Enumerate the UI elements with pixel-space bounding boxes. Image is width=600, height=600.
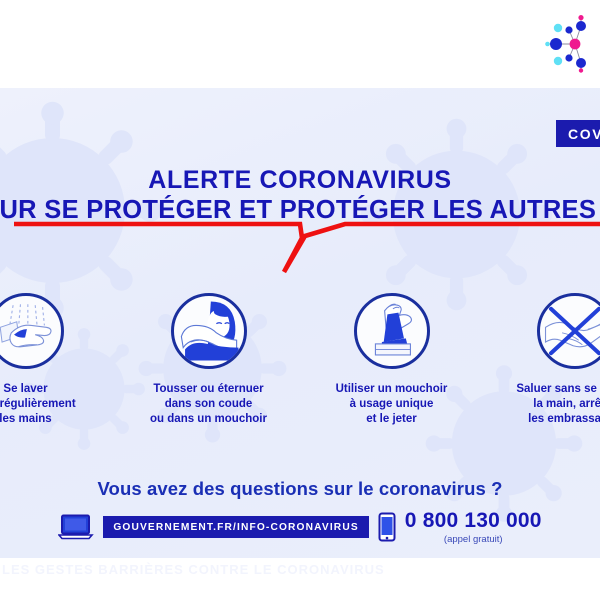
gesture-item: Saluer sans se serrer la main, arrêter l…	[483, 293, 600, 428]
poster-title-line-1: ALERTE CORONAVIRUS	[0, 166, 600, 195]
covid-badge: COVID-19	[556, 120, 600, 147]
gesture-item: Se laver très régulièrement les mains	[0, 293, 117, 428]
gesture-item: Tousser ou éternuer dans son coude ou da…	[117, 293, 300, 428]
single-use-tissue-icon	[354, 293, 430, 369]
red-divider-rule	[0, 216, 600, 276]
gesture-item: Utiliser un mouchoir à usage unique et l…	[300, 293, 483, 428]
top-white-bar: E	[0, 0, 600, 88]
gesture-caption: Tousser ou éternuer dans son coude ou da…	[150, 382, 267, 428]
bottom-white-strip: LES GESTES BARRIÈRES CONTRE LE CORONAVIR…	[0, 558, 600, 600]
gesture-caption: Utiliser un mouchoir à usage unique et l…	[336, 382, 448, 428]
laptop-icon	[58, 514, 94, 540]
no-handshake-icon	[537, 293, 600, 369]
smartphone-icon	[378, 512, 396, 542]
molecule-network-logo-icon	[538, 14, 592, 74]
questions-heading: Vous avez des questions sur le coronavir…	[0, 478, 600, 500]
ghost-footer-text: LES GESTES BARRIÈRES CONTRE LE CORONAVIR…	[2, 562, 385, 577]
barrier-gestures-row: Se laver très régulièrement les mains To…	[0, 293, 600, 428]
contact-row: GOUVERNEMENT.FR/INFO-CORONAVIRUS 0 800 1…	[0, 510, 600, 545]
covid-poster: COVID-19 ALERTE CORONAVIRUS POUR SE PROT…	[0, 88, 600, 558]
phone-note: (appel gratuit)	[444, 535, 503, 545]
cough-into-elbow-icon	[171, 293, 247, 369]
gesture-caption: Se laver très régulièrement les mains	[0, 382, 76, 428]
gesture-caption: Saluer sans se serrer la main, arrêter l…	[516, 382, 600, 428]
phone-number[interactable]: 0 800 130 000	[405, 510, 542, 531]
handwashing-icon	[0, 293, 64, 369]
info-url-banner[interactable]: GOUVERNEMENT.FR/INFO-CORONAVIRUS	[103, 516, 368, 538]
phone-block: 0 800 130 000 (appel gratuit)	[405, 510, 542, 545]
